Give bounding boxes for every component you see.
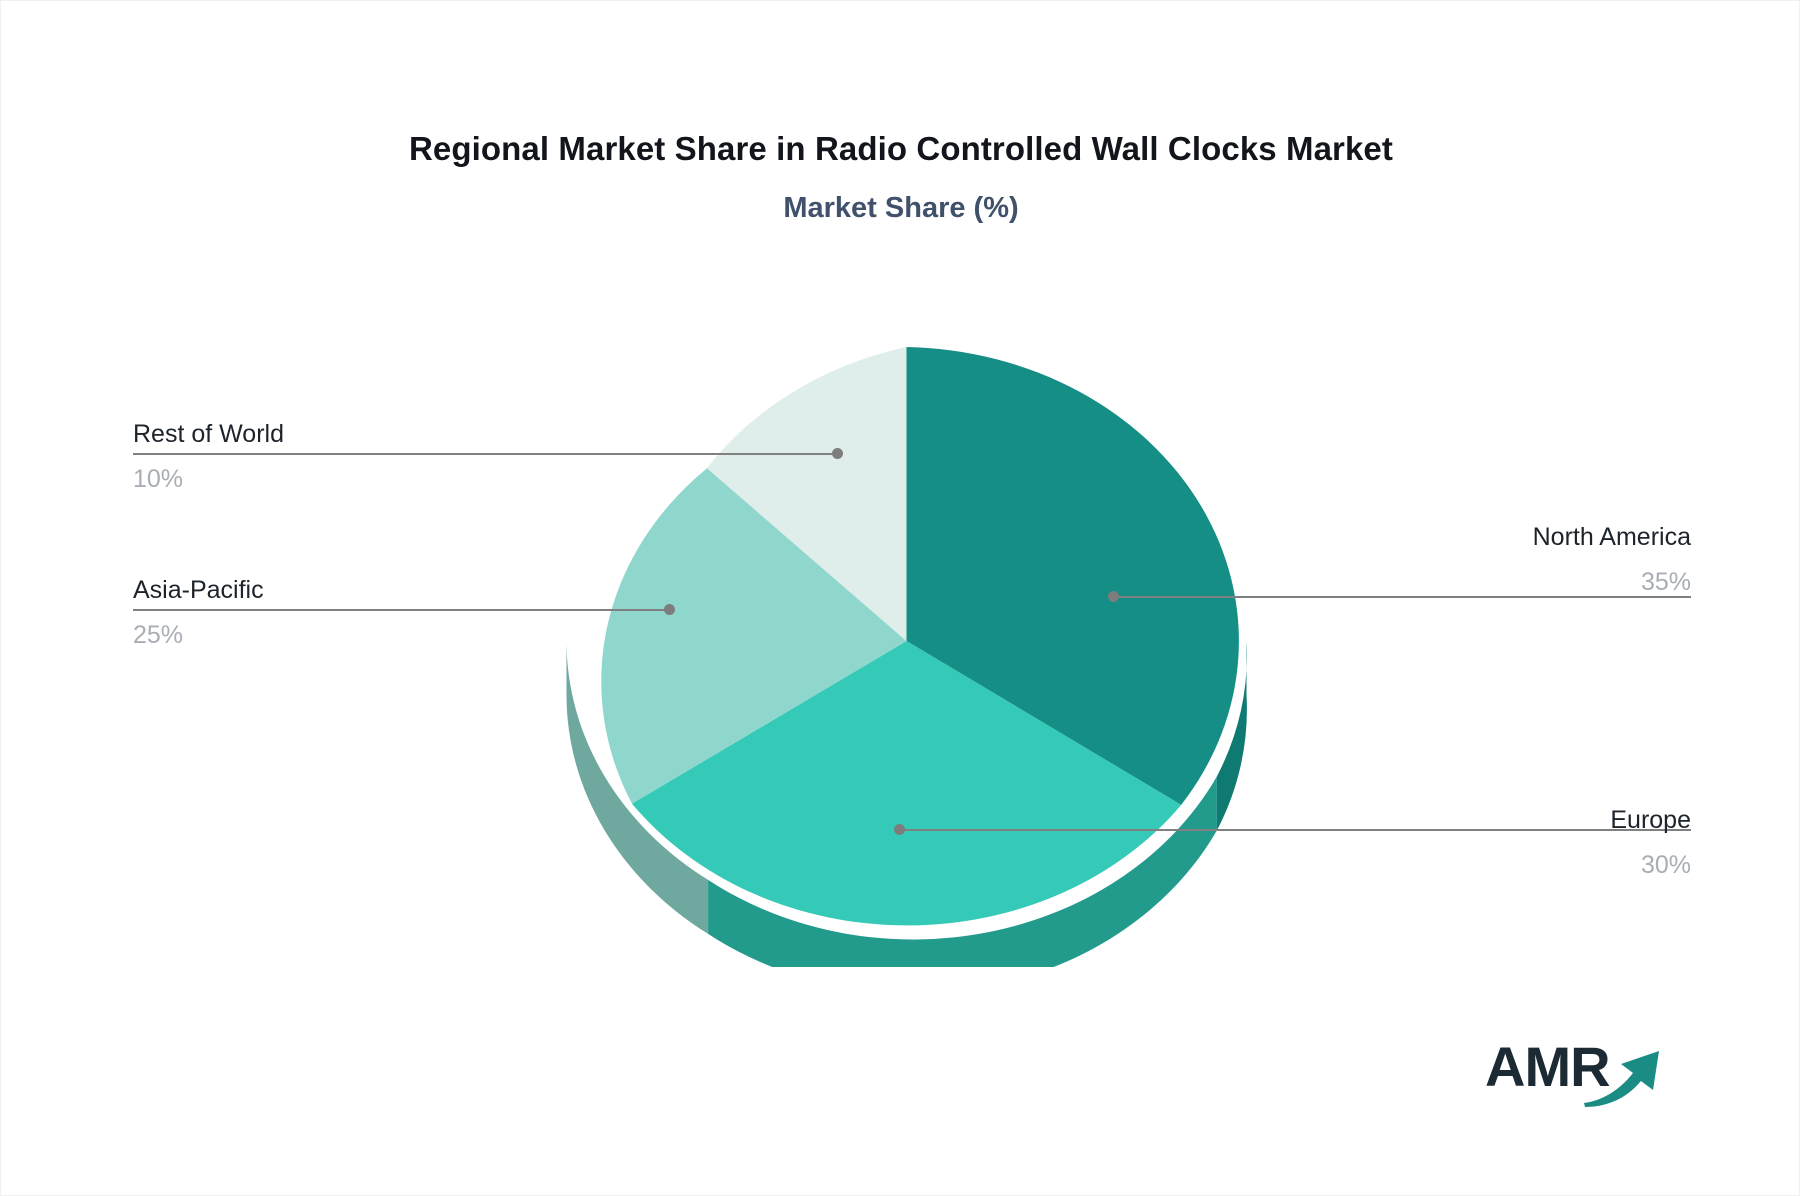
callout-asia-pacific: Asia-Pacific 25%	[133, 575, 533, 652]
callout-europe: Europe 30%	[1291, 805, 1691, 882]
pie-chart	[553, 347, 1265, 967]
callout-north-america: North America 35%	[1291, 522, 1691, 599]
callout-value-rest-of-world: 10%	[133, 464, 533, 495]
pie-svg	[553, 347, 1265, 967]
title-block: Regional Market Share in Radio Controlle…	[1, 129, 1800, 225]
leader-dot-north-america	[1108, 591, 1119, 602]
callout-label-rest-of-world: Rest of World	[133, 419, 533, 450]
callout-value-europe: 30%	[1291, 850, 1691, 881]
callout-label-north-america: North America	[1291, 522, 1691, 553]
amr-logo: AMR	[1485, 1037, 1665, 1115]
page-title: Regional Market Share in Radio Controlle…	[1, 129, 1800, 169]
leader-dot-europe	[894, 824, 905, 835]
callout-label-europe: Europe	[1291, 805, 1691, 836]
callout-value-north-america: 35%	[1291, 567, 1691, 598]
chart-subtitle: Market Share (%)	[1, 191, 1800, 226]
callout-label-asia-pacific: Asia-Pacific	[133, 575, 533, 606]
growth-arrow-icon	[1581, 1045, 1665, 1107]
leader-dot-asia-pacific	[664, 604, 675, 615]
leader-dot-rest-of-world	[832, 448, 843, 459]
callout-value-asia-pacific: 25%	[133, 620, 533, 651]
callout-rest-of-world: Rest of World 10%	[133, 419, 533, 496]
chart-canvas: Regional Market Share in Radio Controlle…	[0, 0, 1800, 1196]
